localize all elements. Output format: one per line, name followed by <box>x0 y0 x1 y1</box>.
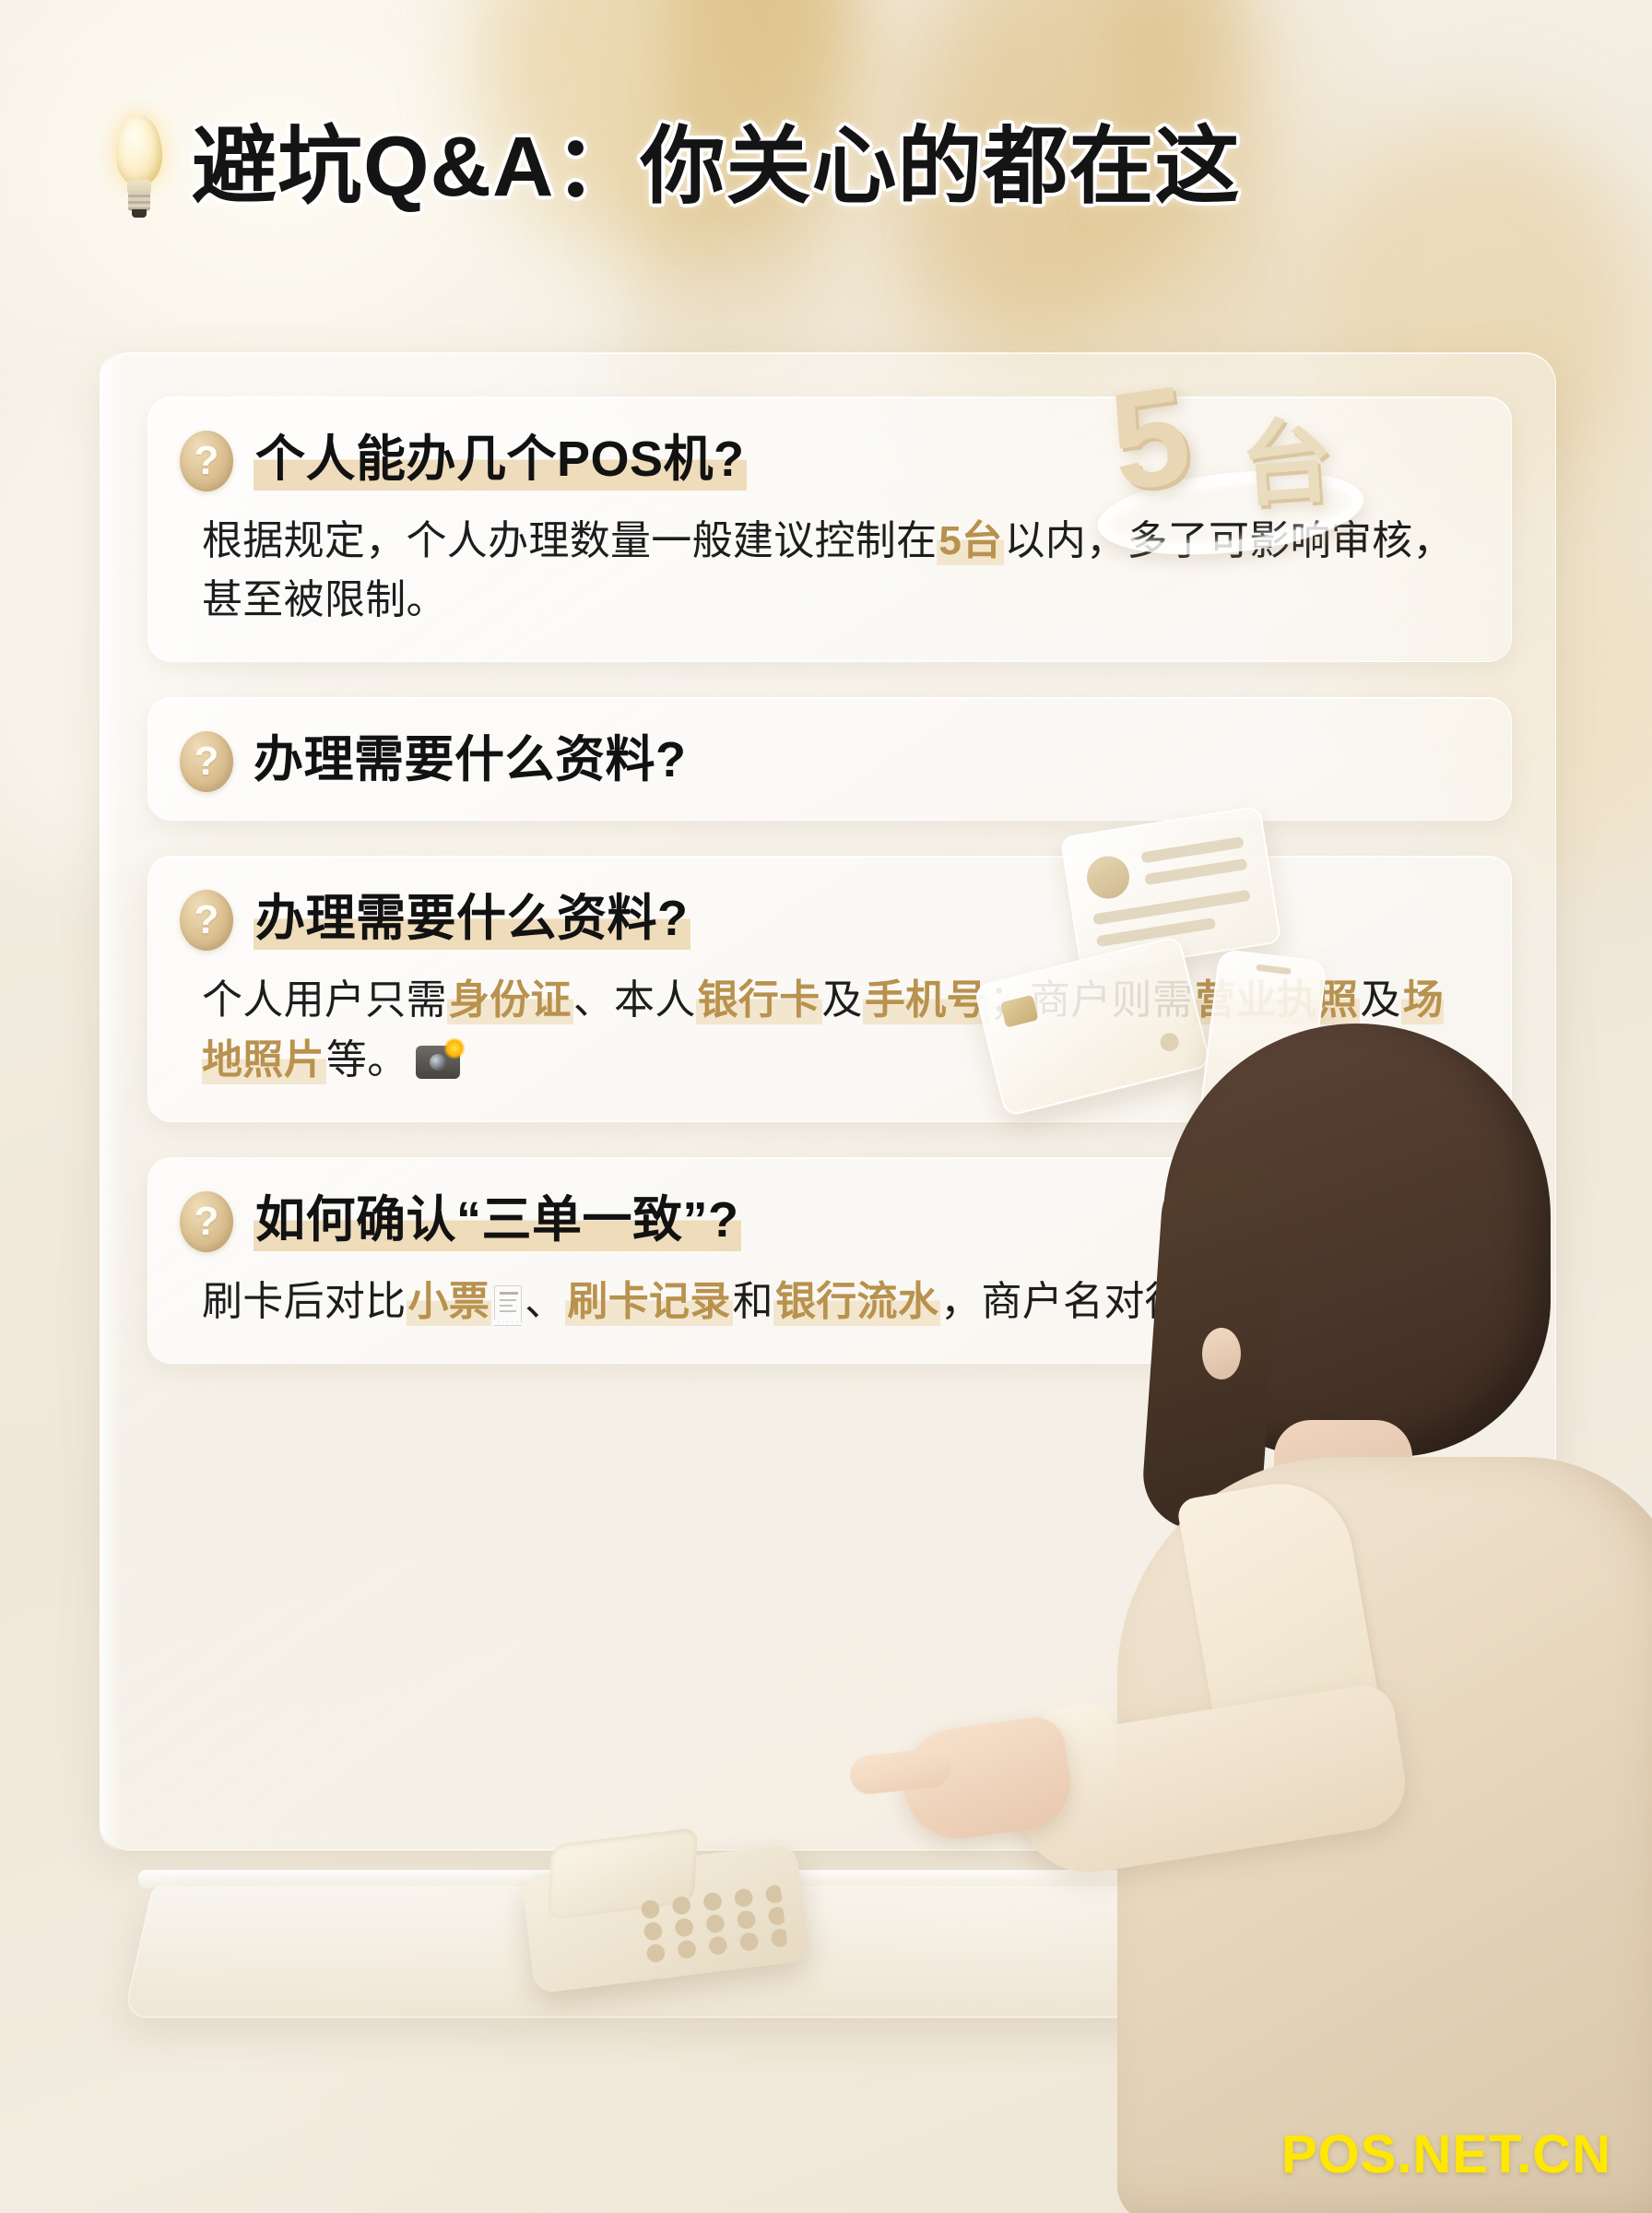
question-row: ? 办理需要什么资料? <box>180 886 1474 951</box>
question-text: 个人能办几个POS机? <box>254 427 747 490</box>
receipt-icon <box>494 1285 522 1322</box>
question-text: 如何确认“三单一致”? <box>254 1188 741 1250</box>
question-mark-icon: ? <box>180 731 233 792</box>
camera-icon <box>416 1046 460 1079</box>
poster-canvas: 避坑Q&A：你关心的都在这 5 台 ? 个人能办几个POS机? 根据规定，个人办… <box>0 0 1652 2213</box>
question-row: ? 个人能办几个POS机? <box>180 427 1474 491</box>
page-title: 避坑Q&A：你关心的都在这 <box>192 124 1240 209</box>
question-mark-icon: ? <box>180 1191 233 1252</box>
lightbulb-icon <box>111 115 168 219</box>
qa-card-1: ? 个人能办几个POS机? 根据规定，个人办理数量一般建议控制在5台以内，多了可… <box>147 396 1512 662</box>
question-row: ? 办理需要什么资料? <box>180 728 1474 792</box>
answer-text: 根据规定，个人办理数量一般建议控制在5台以内，多了可影响审核，甚至被限制。 <box>202 512 1474 630</box>
qa-card-2: ? 办理需要什么资料? <box>147 697 1512 821</box>
question-text: 办理需要什么资料? <box>254 728 687 790</box>
poster-header: 避坑Q&A：你关心的都在这 <box>111 115 1240 219</box>
site-watermark: POS.NET.CN <box>1281 2124 1611 2185</box>
question-mark-icon: ? <box>180 890 233 951</box>
question-text: 办理需要什么资料? <box>254 886 690 949</box>
question-mark-icon: ? <box>180 431 233 491</box>
person-illustration <box>988 1024 1652 2213</box>
